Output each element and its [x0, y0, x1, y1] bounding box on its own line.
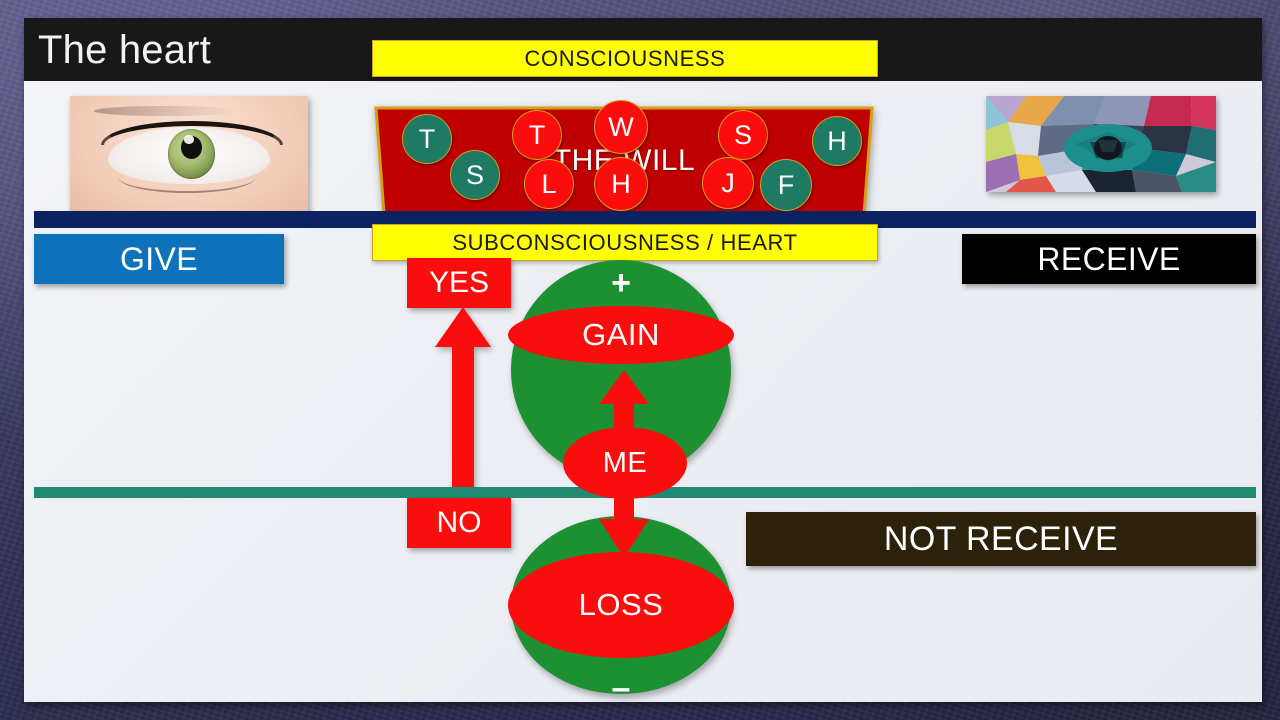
- trait-circle-j-7: J: [702, 157, 754, 209]
- trait-circle-s-6: S: [718, 110, 768, 160]
- eye-brow: [94, 106, 237, 117]
- page-title: The heart: [38, 26, 211, 74]
- trait-letter: T: [529, 122, 546, 149]
- slide-canvas: The heart CONSCIOUSNESS: [24, 18, 1262, 702]
- label-receive: RECEIVE: [962, 234, 1256, 284]
- trait-circle-w-4: W: [594, 100, 648, 154]
- give-arrow-up-icon: [434, 307, 492, 502]
- trait-letter: H: [611, 171, 631, 198]
- trait-letter: J: [721, 170, 735, 197]
- minus-sign: –: [597, 670, 645, 706]
- label-give: GIVE: [34, 234, 284, 284]
- natural-eye-image: [70, 96, 308, 215]
- trait-letter: S: [734, 122, 752, 149]
- trait-circle-l-3: L: [524, 159, 574, 209]
- trait-circle-h-5: H: [594, 157, 648, 211]
- trait-letter: W: [608, 114, 633, 141]
- me-label: ME: [563, 427, 687, 499]
- trait-circle-t-0: T: [402, 114, 452, 164]
- trait-circle-h-9: H: [812, 116, 862, 166]
- trait-letter: T: [419, 126, 436, 153]
- trait-letter: S: [466, 162, 484, 189]
- banner-consciousness: CONSCIOUSNESS: [372, 40, 878, 77]
- label-not-receive: NOT RECEIVE: [746, 512, 1256, 566]
- give-arrow-svg: [434, 307, 492, 502]
- trait-letter: H: [827, 128, 847, 155]
- trait-circle-t-2: T: [512, 110, 562, 160]
- trait-circle-f-8: F: [760, 159, 812, 211]
- slide-frame: The heart CONSCIOUSNESS: [0, 0, 1280, 720]
- decision-box-yes: YES: [407, 258, 511, 308]
- gain-label: GAIN: [508, 306, 734, 364]
- trait-letter: L: [541, 171, 556, 198]
- low-poly-eye-image: [986, 96, 1216, 192]
- trait-letter: F: [778, 172, 795, 199]
- loss-label: LOSS: [508, 552, 734, 658]
- banner-subconsciousness: SUBCONSCIOUSNESS / HEART: [372, 224, 878, 261]
- trait-circle-s-1: S: [450, 150, 500, 200]
- low-poly-eye-svg: [986, 96, 1216, 192]
- decision-box-no: NO: [407, 498, 511, 548]
- plus-sign: +: [597, 265, 645, 301]
